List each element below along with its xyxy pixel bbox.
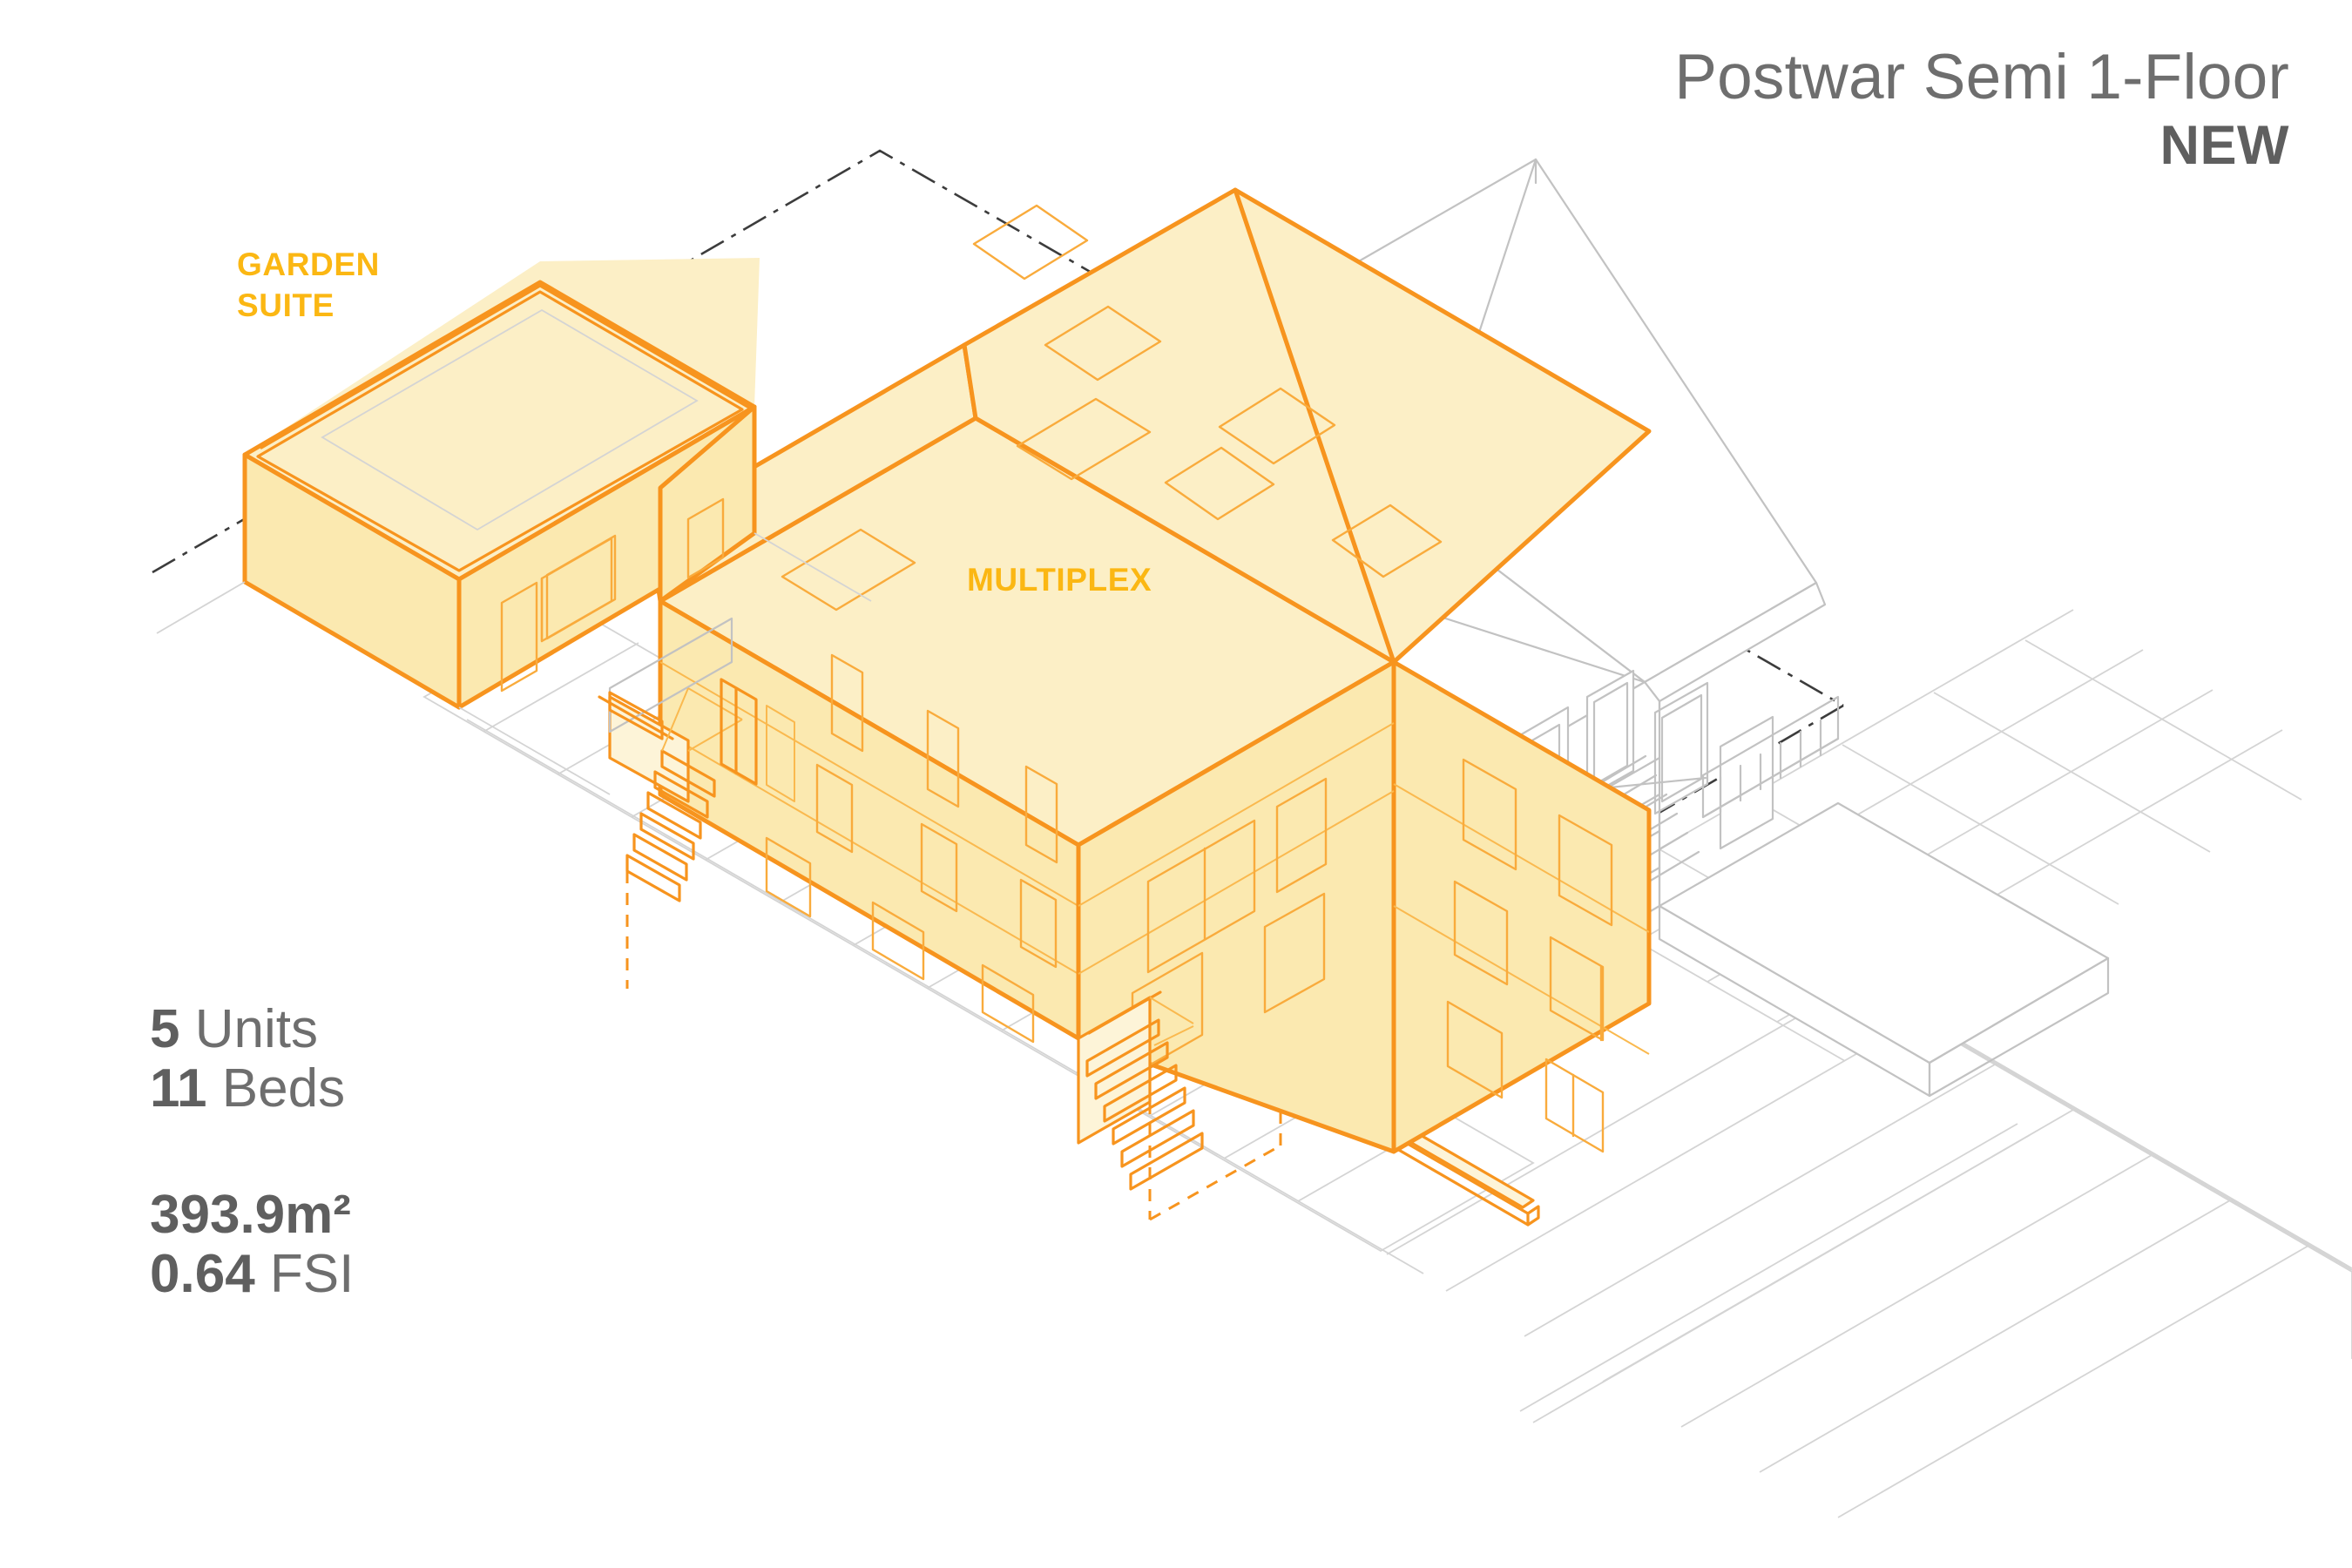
status-badge: NEW xyxy=(1674,109,2289,183)
stats-spacer xyxy=(150,1118,354,1186)
units-value: 5 xyxy=(150,999,179,1059)
fsi-label: FSI xyxy=(270,1244,354,1304)
stat-fsi: 0.64 FSI xyxy=(150,1245,354,1304)
beds-label: Beds xyxy=(222,1058,345,1119)
garden-suite-label: GARDEN SUITE xyxy=(237,245,380,326)
diagram-canvas: .fillA{fill:#FCEFC6;} .fillB{fill:#FBE9B… xyxy=(0,0,2352,1568)
page-title: Postwar Semi 1-Floor xyxy=(1674,45,2289,109)
isometric-massing-drawing: .fillA{fill:#FCEFC6;} .fillB{fill:#FBE9B… xyxy=(0,0,2352,1568)
units-label: Units xyxy=(195,999,318,1059)
fsi-value: 0.64 xyxy=(150,1244,255,1304)
area-value: 393.9m² xyxy=(150,1185,351,1245)
beds-value: 11 xyxy=(150,1058,207,1119)
garden-suite-label-line1: GARDEN xyxy=(237,245,380,286)
stat-units: 5 Units xyxy=(150,1000,354,1059)
title-block: Postwar Semi 1-Floor NEW xyxy=(1674,45,2289,183)
garden-suite-label-line2: SUITE xyxy=(237,286,380,327)
stats-block: 5 Units 11 Beds 393.9m² 0.64 FSI xyxy=(150,1000,354,1303)
stat-area: 393.9m² xyxy=(150,1186,354,1245)
skylight xyxy=(974,206,1087,279)
stat-beds: 11 Beds xyxy=(150,1059,354,1119)
multiplex-label: MULTIPLEX xyxy=(967,562,1152,598)
